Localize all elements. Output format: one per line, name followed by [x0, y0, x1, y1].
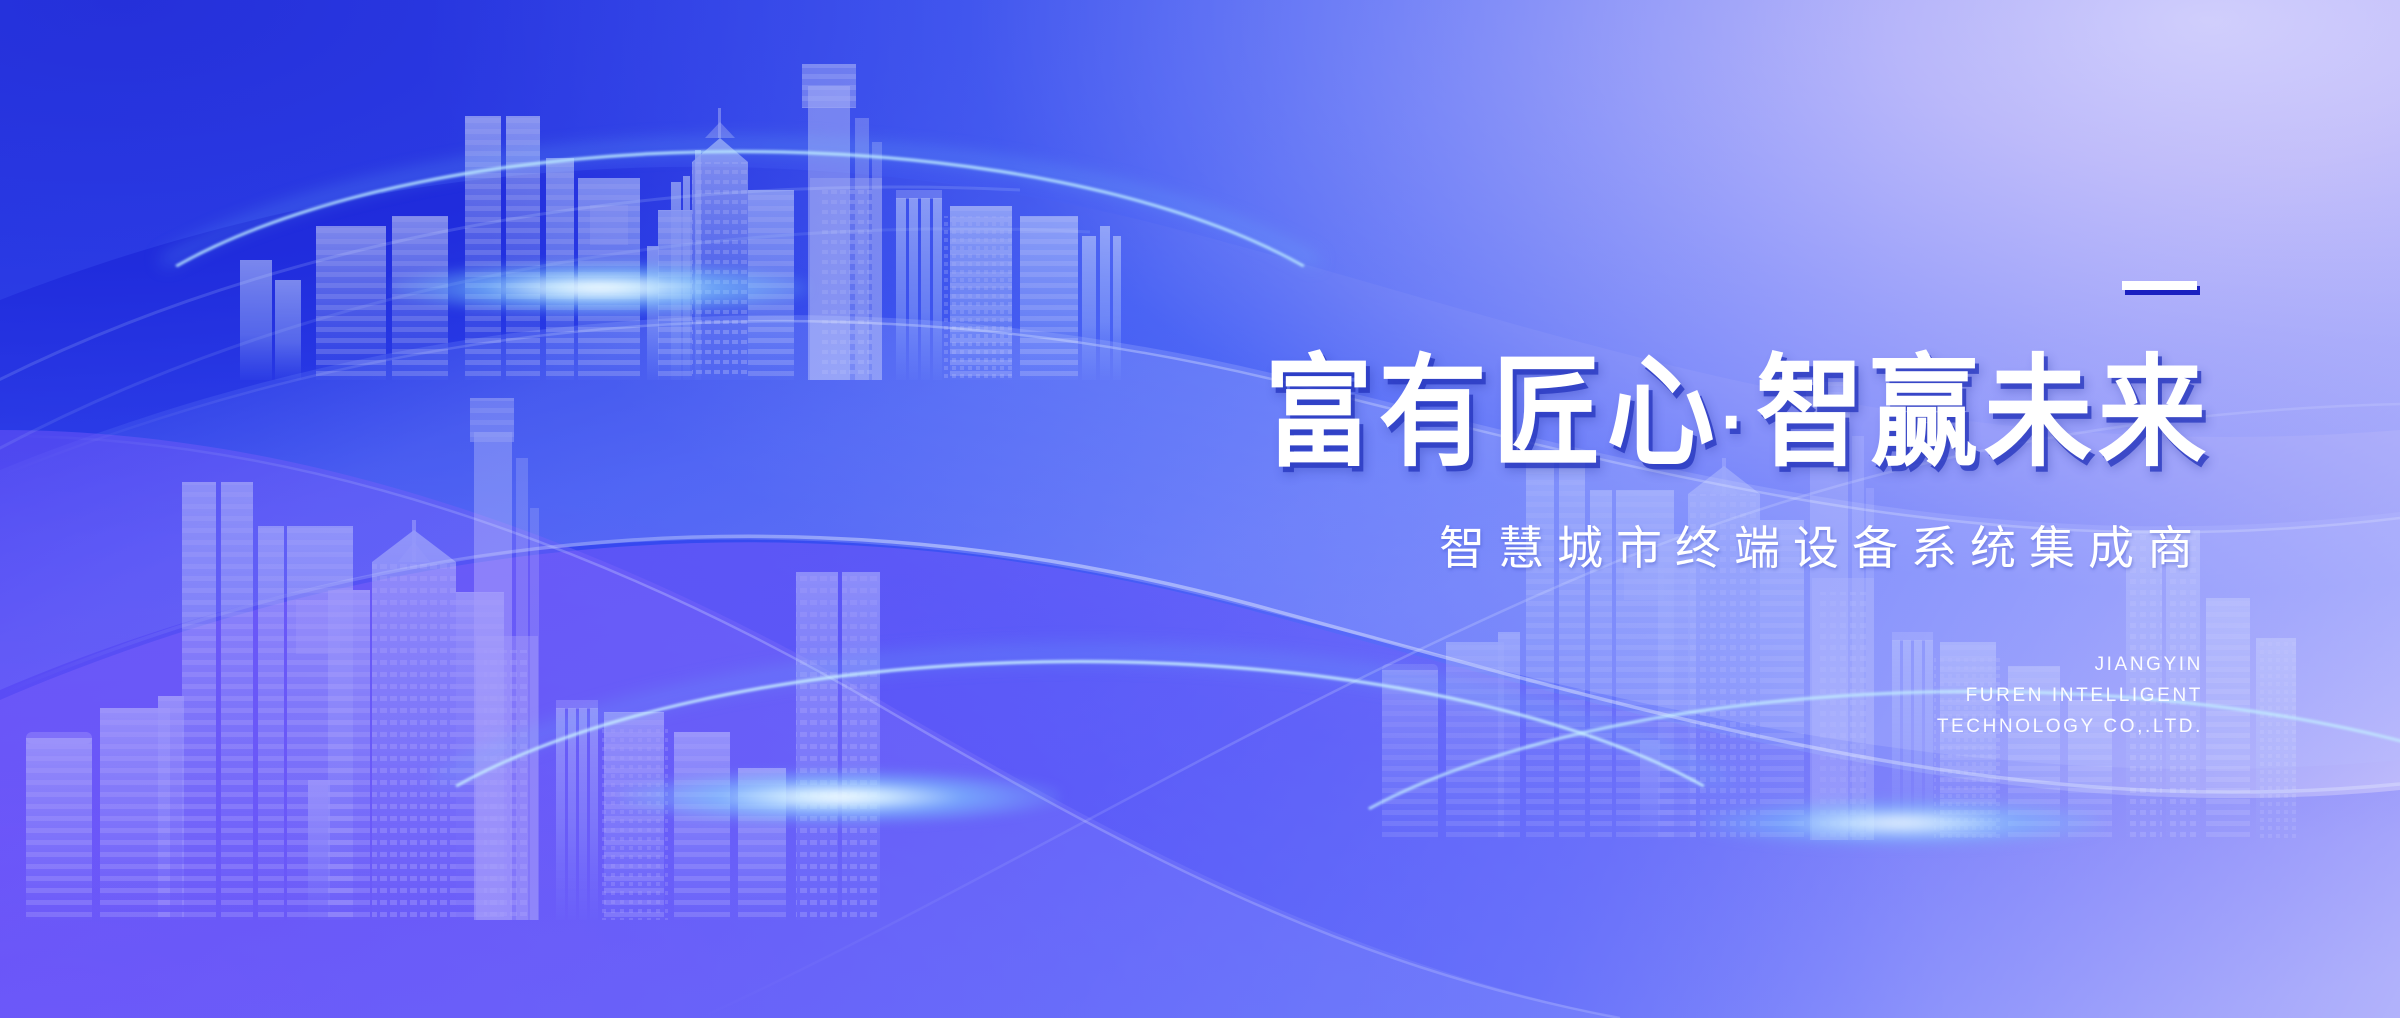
banner-canvas: 富有匠心·智赢未来 智慧城市终端设备系统集成商 JIANGYIN FUREN I… — [0, 0, 2400, 1018]
subtitle: 智慧城市终端设备系统集成商 — [0, 512, 2206, 578]
accent-rule — [2122, 281, 2197, 290]
banner-text-block: 富有匠心·智赢未来 智慧城市终端设备系统集成商 JIANGYIN FUREN I… — [0, 0, 2400, 1018]
headline-part2: 智赢未来 — [1756, 345, 2212, 481]
headline-part1: 富有匠心 — [1265, 345, 1721, 481]
company-en-line-3: TECHNOLOGY CO,.LTD. — [0, 712, 2203, 743]
company-en-line-2: FUREN INTELLIGENT — [0, 681, 2203, 712]
company-name-english: JIANGYIN FUREN INTELLIGENT TECHNOLOGY CO… — [0, 650, 2203, 742]
headline: 富有匠心·智赢未来 — [0, 349, 2212, 476]
company-en-line-1: JIANGYIN — [0, 650, 2203, 681]
headline-separator: · — [1721, 374, 1756, 469]
